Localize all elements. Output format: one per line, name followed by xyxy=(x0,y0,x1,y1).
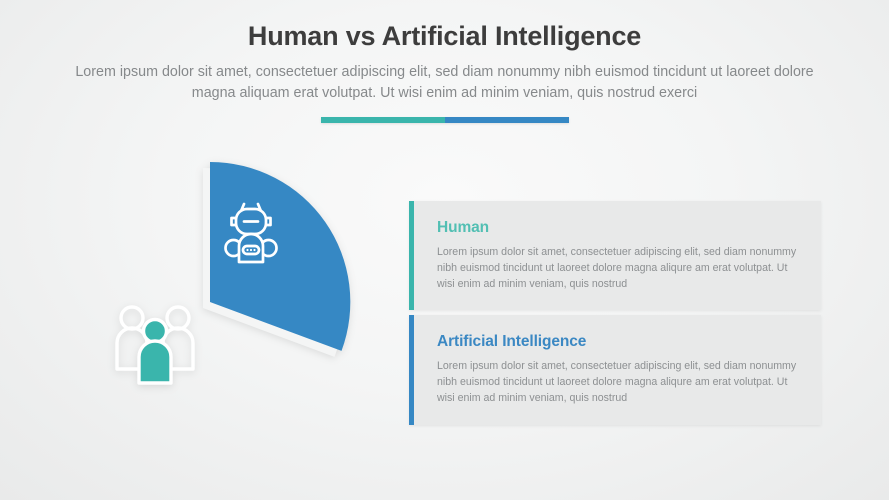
header-divider xyxy=(321,117,569,123)
content-cards: Human Lorem ipsum dolor sit amet, consec… xyxy=(409,201,821,425)
people-icon-head-center xyxy=(144,320,167,343)
page-subtitle: Lorem ipsum dolor sit amet, consectetuer… xyxy=(65,62,825,105)
card-ai-body: Lorem ipsum dolor sit amet, consectetuer… xyxy=(437,358,797,406)
pie-chart-svg xyxy=(50,150,370,460)
card-ai-title: Artificial Intelligence xyxy=(437,333,799,351)
slide-root: Human vs Artificial Intelligence Lorem i… xyxy=(0,0,889,500)
people-icon-head-left xyxy=(121,307,143,329)
robot-icon-dot-3 xyxy=(253,249,255,251)
divider-segment-teal xyxy=(321,117,445,123)
robot-icon-dot-2 xyxy=(250,249,252,251)
people-icon-head-right xyxy=(167,307,189,329)
divider-segment-blue xyxy=(445,117,569,123)
card-human-body: Lorem ipsum dolor sit amet, consectetuer… xyxy=(437,244,797,292)
card-human-accent-bar xyxy=(409,201,414,310)
pie-chart xyxy=(50,150,370,460)
page-title: Human vs Artificial Intelligence xyxy=(0,22,889,52)
card-ai-accent-bar xyxy=(409,315,414,424)
card-human-title: Human xyxy=(437,219,799,237)
card-human[interactable]: Human Lorem ipsum dolor sit amet, consec… xyxy=(409,201,821,310)
slide-header: Human vs Artificial Intelligence Lorem i… xyxy=(0,22,889,105)
card-artificial-intelligence[interactable]: Artificial Intelligence Lorem ipsum dolo… xyxy=(409,315,821,424)
people-icon-body-center xyxy=(139,341,171,383)
people-icon xyxy=(117,307,193,383)
robot-icon-dot-1 xyxy=(246,249,248,251)
